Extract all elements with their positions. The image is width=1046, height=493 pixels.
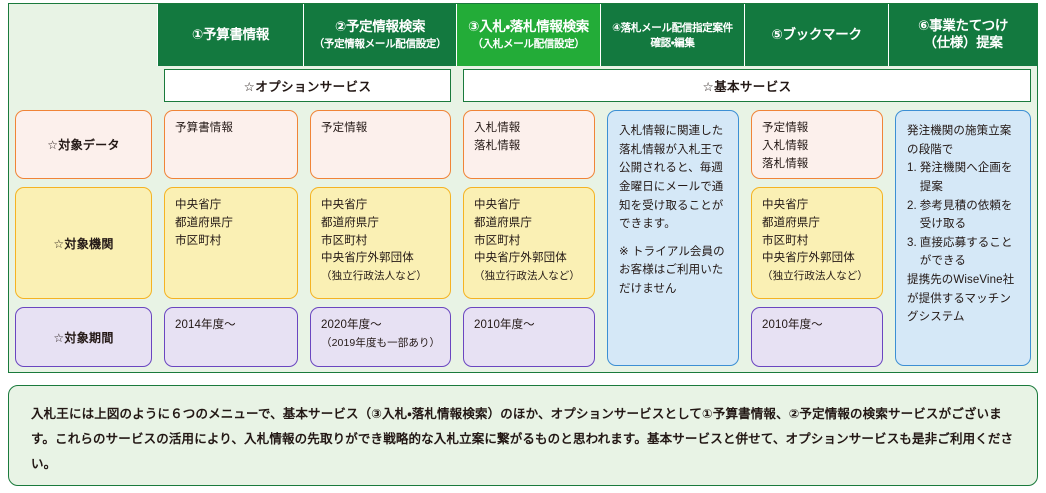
service-band-label: ☆基本サービス [463, 69, 1031, 102]
service-band-option: ☆オプションサービス [158, 66, 457, 106]
cell-line: 中央省庁 [321, 197, 440, 215]
cell-content: 発注機関の施策立案の段階で 1. 発注機関へ企画を提案 2. 参考見積の依頼を受… [895, 110, 1031, 366]
cell-note: （独立行政法人など） [474, 268, 584, 284]
proposal-list: 1. 発注機関へ企画を提案 2. 参考見積の依頼を受け取る 3. 直接応募するこ… [907, 159, 1019, 271]
cell-content: 2010年度～ [463, 307, 595, 367]
cell-content: 2010年度～ [751, 307, 883, 367]
row-label-cell-target-org: ☆対象機関 [9, 183, 158, 303]
cell-line: 都道府県庁 [321, 215, 440, 233]
cell-content: 予定情報 [310, 110, 451, 179]
cell-line: 2010年度～ [474, 317, 584, 335]
column-subtitle: （仕様）提案 [923, 35, 1002, 52]
list-item-number: 2. [907, 197, 917, 234]
cell-org-budget: 中央省庁 都道府県庁 市区町村 [158, 183, 304, 303]
cell-mailcase-merged: 入札情報に関連した落札情報が入札王で公開されると、毎週金曜日にメールで通知を受け… [601, 106, 745, 371]
cell-data-budget: 予算書情報 [158, 106, 304, 183]
row-label-target-data: ☆対象データ [15, 110, 152, 179]
cell-line: 中央省庁 [762, 197, 872, 215]
list-item: 1. 発注機関へ企画を提案 [907, 159, 1019, 196]
cell-line: 落札情報 [474, 138, 584, 156]
matrix-corner [9, 4, 158, 66]
column-title: ①予算書情報 [192, 27, 269, 44]
proposal-tail: 提携先のWiseVine社が提供するマッチングシステム [907, 271, 1019, 327]
list-item-number: 3. [907, 234, 917, 271]
summary-note: 入札王には上図のように６つのメニューで、基本サービス（③入札・落札情報検索）のほ… [8, 385, 1038, 486]
cell-content: 入札情報に関連した落札情報が入札王で公開されると、毎週金曜日にメールで通知を受け… [607, 110, 739, 366]
cell-period-bid: 2010年度～ [457, 303, 601, 371]
cell-line: 落札情報 [762, 156, 872, 174]
service-comparison-page: ①予算書情報 ②予定情報検索 （予定情報メール配信設定） ③入札・落札情報検索 … [0, 0, 1046, 493]
cell-line: 予定情報 [321, 120, 440, 138]
list-item-text: 直接応募することができる [920, 234, 1019, 271]
service-band-basic: ☆基本サービス [457, 66, 1037, 106]
cell-line: 入札情報 [762, 138, 872, 156]
cell-line: 都道府県庁 [175, 215, 287, 233]
column-header-mailcase[interactable]: ④落札メール配信指定案件 確認・編集 [601, 4, 745, 66]
paragraph-spacer [619, 234, 727, 243]
band-row-spacer [9, 66, 158, 106]
column-subtitle: （予定情報メール配信設定） [314, 38, 447, 51]
proposal-lead: 発注機関の施策立案の段階で [907, 122, 1019, 159]
cell-content: 2014年度～ [164, 307, 298, 367]
list-item: 3. 直接応募することができる [907, 234, 1019, 271]
column-title: ②予定情報検索 [335, 19, 425, 36]
mailcase-paragraph-1: 入札情報に関連した落札情報が入札王で公開されると、毎週金曜日にメールで通知を受け… [619, 122, 727, 234]
cell-data-bookmark: 予定情報 入札情報 落札情報 [745, 106, 889, 183]
cell-org-bookmark: 中央省庁 都道府県庁 市区町村 中央省庁外郭団体 （独立行政法人など） [745, 183, 889, 303]
column-subtitle: （入札メール配信設定） [472, 38, 584, 51]
cell-line: 中央省庁外郭団体 [321, 250, 440, 268]
cell-line: 中央省庁外郭団体 [762, 250, 872, 268]
cell-line: 予定情報 [762, 120, 872, 138]
column-title: ⑤ブックマーク [771, 27, 861, 44]
cell-line: 都道府県庁 [762, 215, 872, 233]
list-item-number: 1. [907, 159, 917, 196]
cell-data-plan: 予定情報 [304, 106, 457, 183]
cell-line: 2020年度～ [321, 317, 440, 335]
cell-proposal-merged: 発注機関の施策立案の段階で 1. 発注機関へ企画を提案 2. 参考見積の依頼を受… [889, 106, 1037, 371]
column-header-budget[interactable]: ①予算書情報 [158, 4, 304, 66]
cell-org-plan: 中央省庁 都道府県庁 市区町村 中央省庁外郭団体 （独立行政法人など） [304, 183, 457, 303]
cell-org-bid: 中央省庁 都道府県庁 市区町村 中央省庁外郭団体 （独立行政法人など） [457, 183, 601, 303]
cell-line: 中央省庁外郭団体 [474, 250, 584, 268]
cell-line: 中央省庁 [474, 197, 584, 215]
service-matrix: ①予算書情報 ②予定情報検索 （予定情報メール配信設定） ③入札・落札情報検索 … [8, 3, 1038, 373]
mailcase-paragraph-2: ※ トライアル会員のお客様はご利用いただけません [619, 243, 727, 299]
cell-content: 中央省庁 都道府県庁 市区町村 中央省庁外郭団体 （独立行政法人など） [310, 187, 451, 299]
cell-content: 中央省庁 都道府県庁 市区町村 中央省庁外郭団体 （独立行政法人など） [463, 187, 595, 299]
cell-period-bookmark: 2010年度～ [745, 303, 889, 371]
cell-data-bid: 入札情報 落札情報 [457, 106, 601, 183]
column-header-bid[interactable]: ③入札・落札情報検索 （入札メール配信設定） [457, 4, 601, 66]
column-title: ③入札・落札情報検索 [468, 19, 589, 36]
cell-line: 都道府県庁 [474, 215, 584, 233]
list-item: 2. 参考見積の依頼を受け取る [907, 197, 1019, 234]
row-label-cell-target-data: ☆対象データ [9, 106, 158, 183]
column-title: ⑥事業たてつけ [918, 18, 1008, 35]
cell-content: 入札情報 落札情報 [463, 110, 595, 179]
cell-line: 2010年度～ [762, 317, 872, 335]
cell-content: 予定情報 入札情報 落札情報 [751, 110, 883, 179]
row-label-target-period: ☆対象期間 [15, 307, 152, 367]
list-item-text: 発注機関へ企画を提案 [920, 159, 1019, 196]
row-label-cell-target-period: ☆対象期間 [9, 303, 158, 371]
column-title: ④落札メール配信指定案件 [612, 22, 733, 35]
cell-period-plan: 2020年度～ （2019年度も一部あり） [304, 303, 457, 371]
cell-note: （独立行政法人など） [321, 268, 440, 284]
cell-note: （独立行政法人など） [762, 268, 872, 284]
cell-line: 予算書情報 [175, 120, 287, 138]
column-header-bookmark[interactable]: ⑤ブックマーク [745, 4, 889, 66]
cell-content: 中央省庁 都道府県庁 市区町村 [164, 187, 298, 299]
cell-line: 市区町村 [175, 233, 287, 251]
cell-line: 市区町村 [762, 233, 872, 251]
cell-content: 予算書情報 [164, 110, 298, 179]
cell-period-budget: 2014年度～ [158, 303, 304, 371]
column-subtitle: 確認・編集 [650, 37, 694, 50]
cell-line: 入札情報 [474, 120, 584, 138]
column-header-proposal[interactable]: ⑥事業たてつけ （仕様）提案 [889, 4, 1037, 66]
cell-content: 2020年度～ （2019年度も一部あり） [310, 307, 451, 367]
cell-line: 市区町村 [321, 233, 440, 251]
row-label-target-org: ☆対象機関 [15, 187, 152, 299]
cell-note: （2019年度も一部あり） [321, 335, 440, 351]
cell-line: 中央省庁 [175, 197, 287, 215]
cell-line: 市区町村 [474, 233, 584, 251]
column-header-plan[interactable]: ②予定情報検索 （予定情報メール配信設定） [304, 4, 457, 66]
list-item-text: 参考見積の依頼を受け取る [920, 197, 1019, 234]
cell-line: 2014年度～ [175, 317, 287, 335]
cell-content: 中央省庁 都道府県庁 市区町村 中央省庁外郭団体 （独立行政法人など） [751, 187, 883, 299]
service-band-label: ☆オプションサービス [164, 69, 451, 102]
